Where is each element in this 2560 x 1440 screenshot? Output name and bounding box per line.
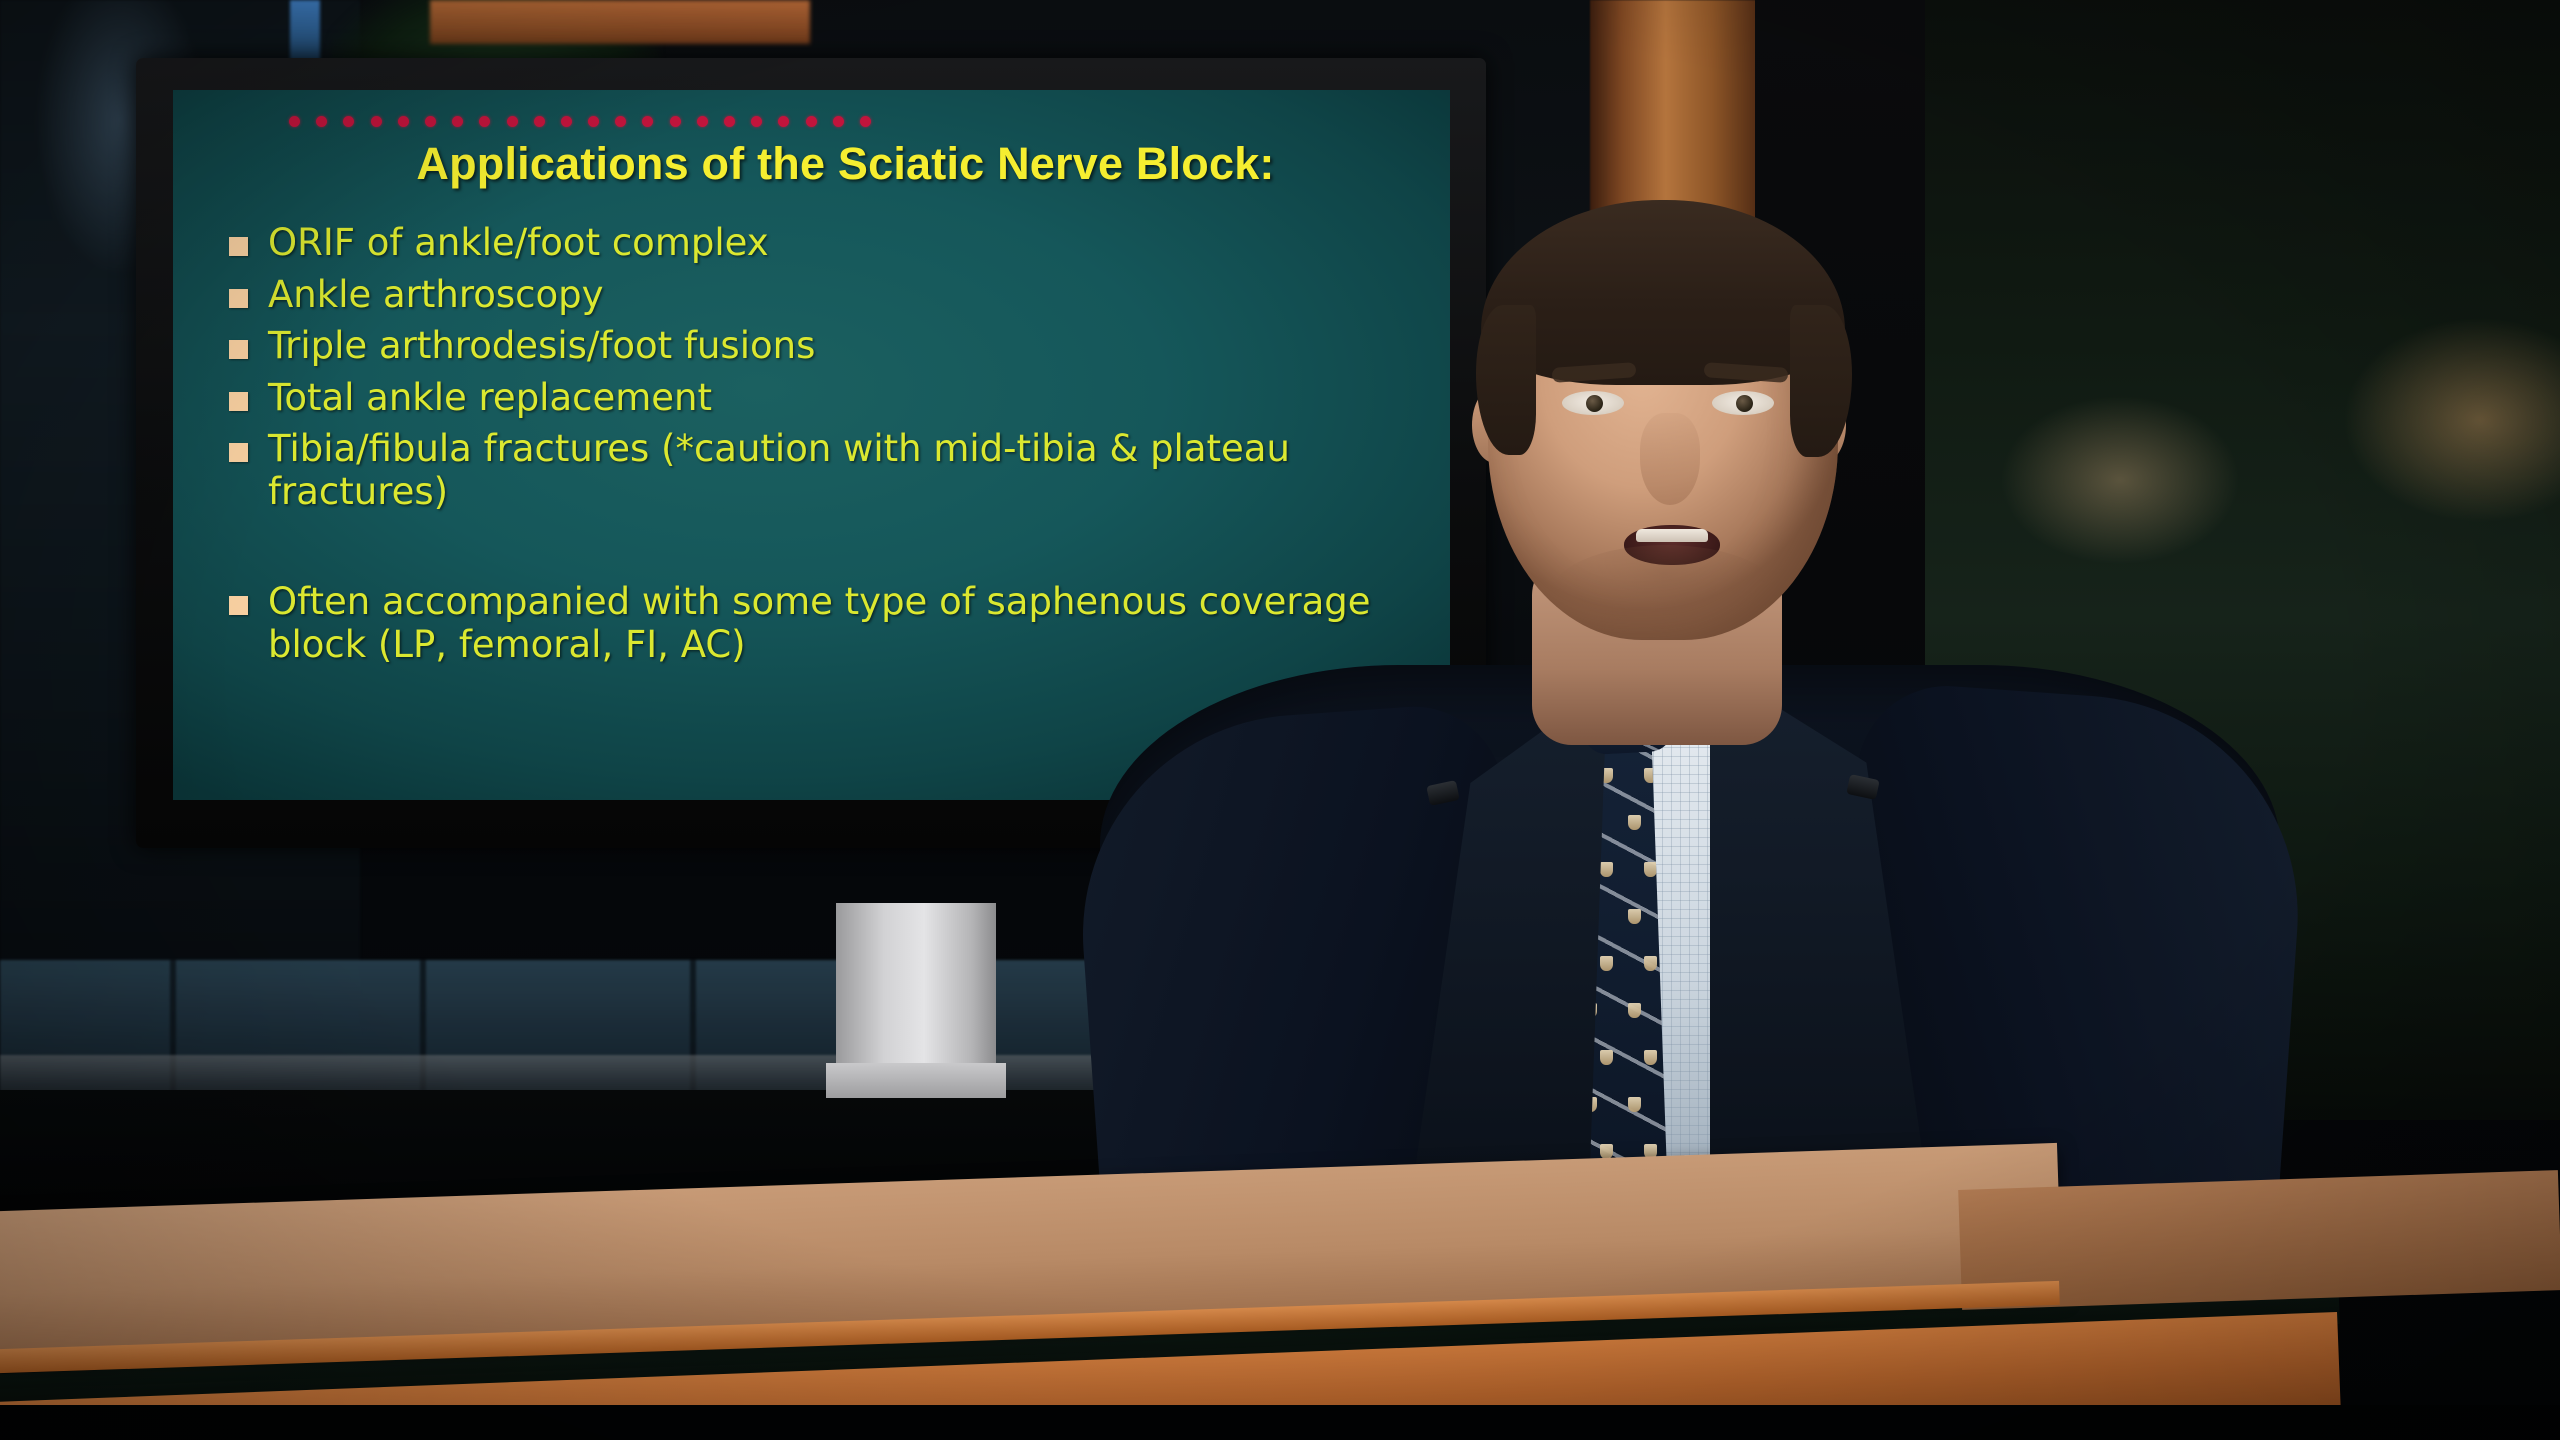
slide-title: Applications of the Sciatic Nerve Block: xyxy=(173,138,1450,190)
pupil-right xyxy=(1736,395,1753,412)
dotted-rule-decoration xyxy=(289,116,871,127)
decoration-dot xyxy=(289,116,300,127)
bullet-text: Total ankle replacement xyxy=(268,377,712,420)
decoration-dot xyxy=(806,116,817,127)
tie-crest-motif xyxy=(1600,862,1613,877)
decoration-dot xyxy=(452,116,463,127)
tie-crest-motif xyxy=(1644,956,1657,971)
tie-crest-motif xyxy=(1644,862,1657,877)
tie-crest-motif xyxy=(1628,1003,1641,1018)
monitor-stand-neck xyxy=(836,903,996,1068)
tie-crest-motif xyxy=(1628,815,1641,830)
tie-crest-motif xyxy=(1644,1050,1657,1065)
chin-shadow xyxy=(1550,545,1780,645)
teeth xyxy=(1636,529,1708,542)
bullet-square-icon xyxy=(229,443,248,462)
decoration-dot xyxy=(670,116,681,127)
decoration-dot xyxy=(534,116,545,127)
decoration-dot xyxy=(833,116,844,127)
bullet-square-icon xyxy=(229,340,248,359)
tie-crest-motif xyxy=(1600,956,1613,971)
decoration-dot xyxy=(343,116,354,127)
decoration-dot xyxy=(561,116,572,127)
decoration-dot xyxy=(316,116,327,127)
decoration-dot xyxy=(642,116,653,127)
decoration-dot xyxy=(398,116,409,127)
decoration-dot xyxy=(697,116,708,127)
tie-crest-motif xyxy=(1628,1097,1641,1112)
decoration-dot xyxy=(371,116,382,127)
bullet-text: Ankle arthroscopy xyxy=(268,274,604,317)
decoration-dot xyxy=(860,116,871,127)
bullet-square-icon xyxy=(229,596,248,615)
decoration-dot xyxy=(724,116,735,127)
decoration-dot xyxy=(751,116,762,127)
bullet-square-icon xyxy=(229,289,248,308)
tie-crest-motif xyxy=(1628,909,1641,924)
decoration-dot xyxy=(479,116,490,127)
video-frame: Applications of the Sciatic Nerve Block:… xyxy=(0,0,2560,1440)
blue-accent-bar xyxy=(290,0,320,60)
decoration-dot xyxy=(615,116,626,127)
monitor-stand-base xyxy=(826,1063,1006,1098)
bullet-text: ORIF of ankle/foot complex xyxy=(268,222,769,265)
exterior-light-strip xyxy=(430,0,810,44)
tie-crest-motif xyxy=(1600,1050,1613,1065)
desk-bottom-shadow xyxy=(0,1405,2560,1440)
decoration-dot xyxy=(588,116,599,127)
bullet-text: Triple arthrodesis/foot fusions xyxy=(268,325,815,368)
pupil-left xyxy=(1586,395,1603,412)
decoration-dot xyxy=(778,116,789,127)
bullet-square-icon xyxy=(229,392,248,411)
decoration-dot xyxy=(425,116,436,127)
decoration-dot xyxy=(507,116,518,127)
bullet-square-icon xyxy=(229,237,248,256)
nose xyxy=(1640,413,1700,505)
